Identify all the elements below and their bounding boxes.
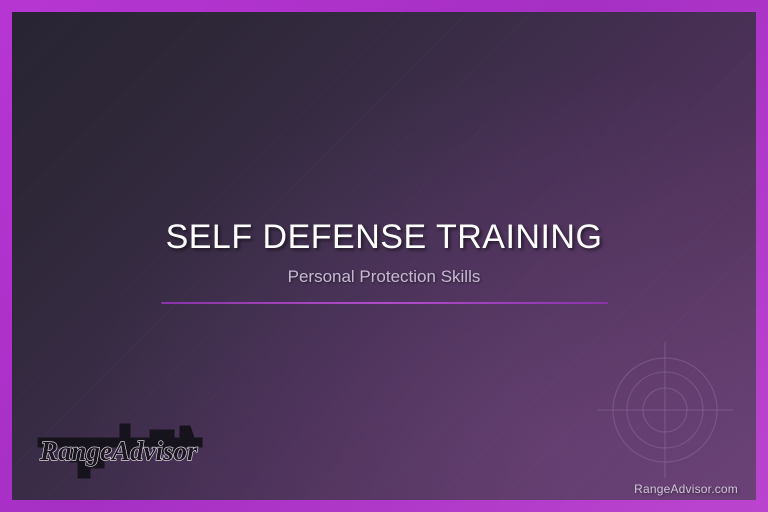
crosshair-target-icon: [585, 330, 745, 490]
title-divider: [161, 302, 608, 304]
footer-watermark: RangeAdvisor.com: [634, 482, 738, 496]
presentation-slide: SELF DEFENSE TRAINING Personal Protectio…: [0, 0, 768, 512]
title-block: SELF DEFENSE TRAINING Personal Protectio…: [12, 218, 756, 304]
page-subtitle: Personal Protection Skills: [12, 267, 756, 287]
slide-content-panel: SELF DEFENSE TRAINING Personal Protectio…: [12, 12, 756, 500]
page-title: SELF DEFENSE TRAINING: [12, 218, 756, 257]
brand-wordmark: RangeAdvisor: [39, 436, 198, 466]
brand-logo: RangeAdvisor: [34, 416, 206, 482]
